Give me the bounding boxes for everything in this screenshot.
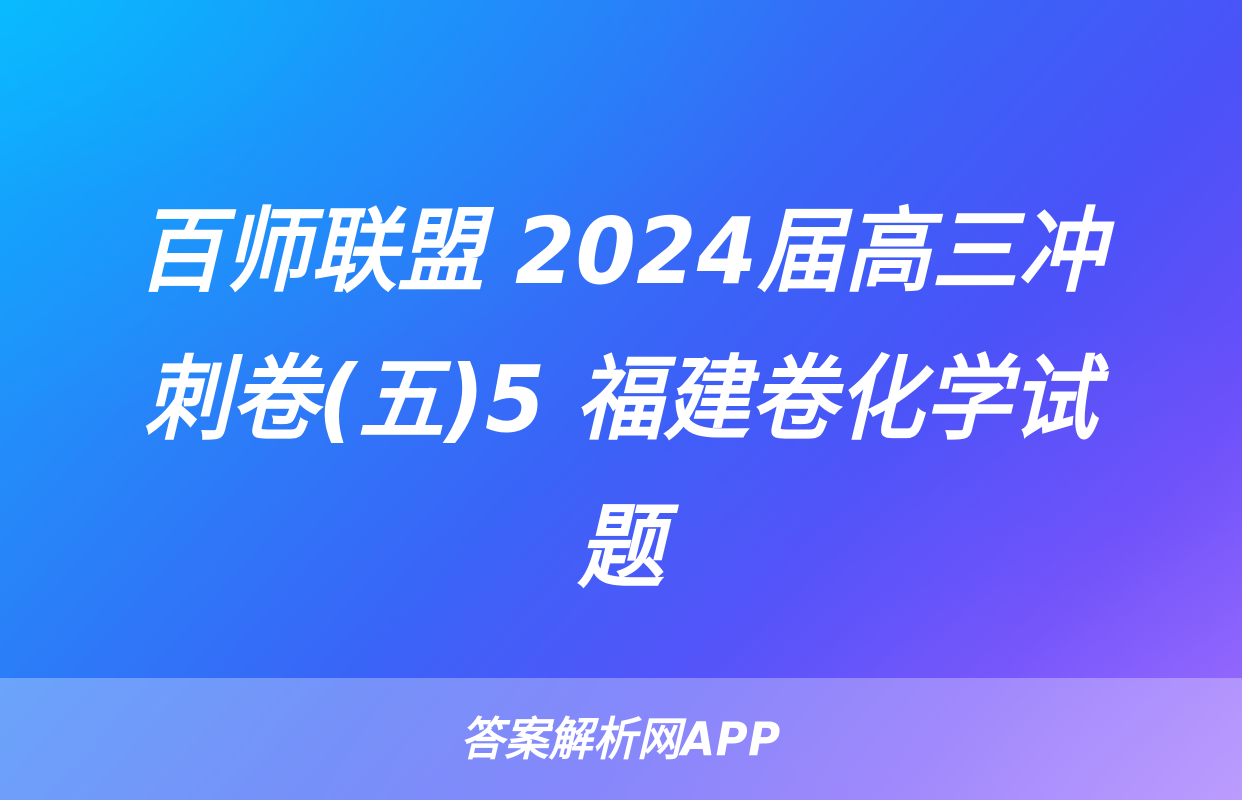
footer-watermark-band: 答案解析网APP — [0, 678, 1242, 800]
brand-watermark-label: 答案解析网APP — [461, 716, 781, 762]
exam-cover-card: 百师联盟 2024届高三冲刺卷(五)5 福建卷化学试题 答案解析网APP — [0, 0, 1242, 800]
page-title: 百师联盟 2024届高三冲刺卷(五)5 福建卷化学试题 — [37, 178, 1204, 622]
page-title-text: 百师联盟 2024届高三冲刺卷(五)5 福建卷化学试题 — [109, 178, 1134, 622]
